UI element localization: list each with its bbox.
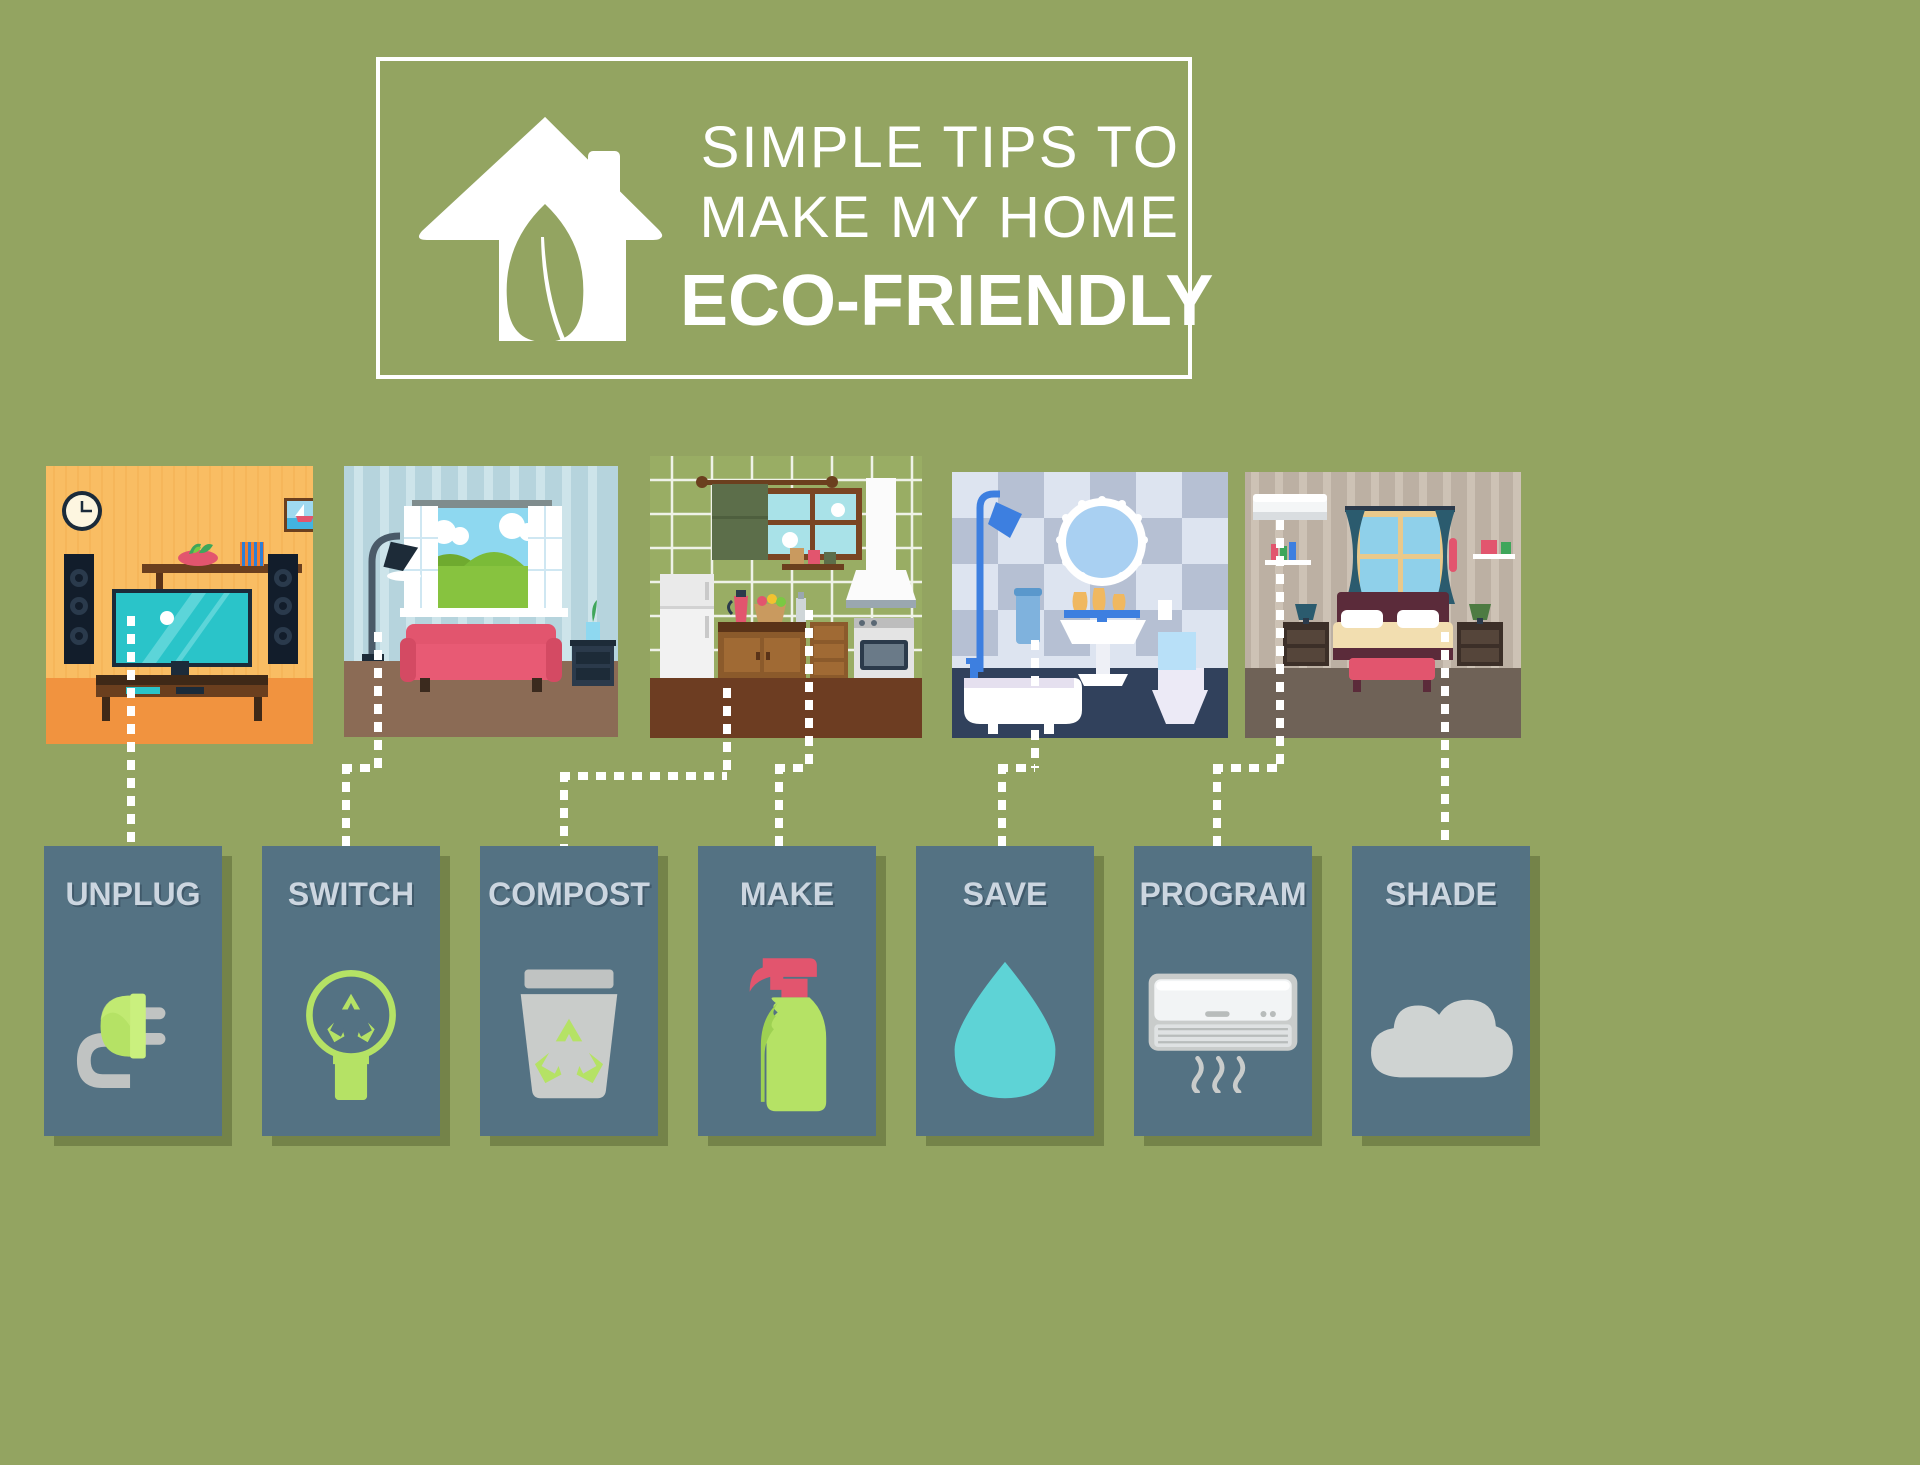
connector-program-a bbox=[1276, 520, 1284, 768]
scene-bedroom bbox=[1245, 472, 1521, 738]
connector-save-c bbox=[998, 764, 1006, 854]
connector-switch-c bbox=[342, 764, 350, 854]
connector-program-c bbox=[1213, 764, 1221, 854]
cloud-icon bbox=[1352, 938, 1530, 1123]
card-label-program: PROGRAM bbox=[1134, 876, 1312, 913]
card-label-make: MAKE bbox=[698, 876, 876, 913]
connector-program-b bbox=[1213, 764, 1283, 772]
scene-kitchen bbox=[650, 456, 922, 738]
card-label-unplug: UNPLUG bbox=[44, 876, 222, 913]
card-save[interactable]: SAVE bbox=[916, 846, 1094, 1136]
connector-shade bbox=[1441, 632, 1449, 854]
connector-save-a bbox=[1031, 640, 1039, 768]
connector-switch-a bbox=[374, 632, 382, 768]
recycle-bin-icon bbox=[480, 938, 658, 1123]
scene-row bbox=[0, 0, 1920, 1465]
card-label-compost: COMPOST bbox=[480, 876, 658, 913]
card-unplug[interactable]: UNPLUG bbox=[44, 846, 222, 1136]
connector-make-c bbox=[775, 764, 783, 854]
connector-compost-c bbox=[560, 772, 568, 854]
power-plug-icon bbox=[44, 938, 222, 1123]
connector-compost-b bbox=[560, 772, 727, 780]
card-compost[interactable]: COMPOST bbox=[480, 846, 658, 1136]
water-drop-icon bbox=[916, 938, 1094, 1123]
spray-bottle-icon bbox=[698, 938, 876, 1123]
card-make[interactable]: MAKE bbox=[698, 846, 876, 1136]
card-program[interactable]: PROGRAM bbox=[1134, 846, 1312, 1136]
recycle-bulb-icon bbox=[262, 938, 440, 1123]
card-label-switch: SWITCH bbox=[262, 876, 440, 913]
scene-bathroom bbox=[952, 472, 1228, 738]
air-conditioner-icon bbox=[1134, 938, 1312, 1123]
card-switch[interactable]: SWITCH bbox=[262, 846, 440, 1136]
card-label-shade: SHADE bbox=[1352, 876, 1530, 913]
scene-living-room bbox=[46, 466, 313, 744]
connector-make-a bbox=[805, 610, 813, 768]
connector-compost-a bbox=[723, 688, 731, 776]
connector-unplug bbox=[127, 616, 135, 854]
scene-lounge-room bbox=[344, 466, 618, 737]
card-label-save: SAVE bbox=[916, 876, 1094, 913]
card-shade[interactable]: SHADE bbox=[1352, 846, 1530, 1136]
